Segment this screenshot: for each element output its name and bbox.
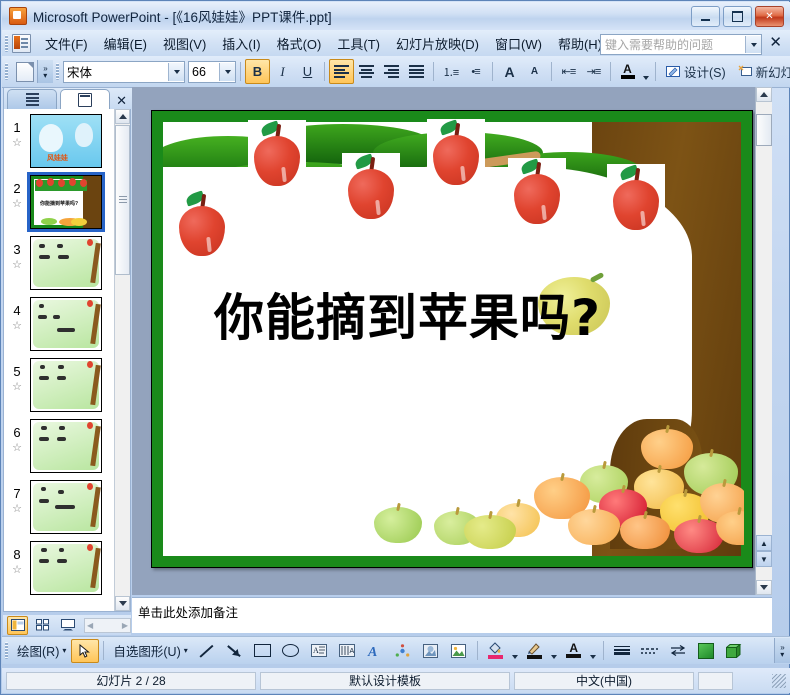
apple-red-3 <box>342 153 400 225</box>
minimize-button[interactable] <box>691 6 720 27</box>
line-color-chevron-down-icon[interactable] <box>549 636 560 665</box>
shadow-style-button[interactable] <box>692 639 720 663</box>
apple-red-4 <box>427 119 485 191</box>
fill-color-icon <box>488 640 503 662</box>
menu-item-slideshow[interactable]: 幻灯片放映(D) <box>388 30 487 57</box>
window-controls: ✕ <box>691 6 784 27</box>
previous-slide-button[interactable]: ▲ <box>756 535 772 551</box>
fill-color-button[interactable] <box>482 639 510 663</box>
line-color-icon <box>527 640 542 662</box>
thumbnail-number: 8 ☆ <box>4 541 30 575</box>
oval-icon <box>282 644 299 657</box>
slide-thumbnail-selected[interactable]: 你能摘到苹果吗? <box>30 175 102 229</box>
view-buttons-bar: ◀▶ <box>3 615 131 635</box>
drawing-toolbar: 绘图(R) ▾ 自选图形(U) ▾ A A A <box>2 636 790 664</box>
decrease-indent-icon: ⇤≡ <box>562 65 576 78</box>
transition-star-icon: ☆ <box>12 260 22 270</box>
thumbnail-list[interactable]: 1 ☆ 风娃娃 2 ☆ <box>4 109 116 611</box>
arrow-style-button[interactable] <box>664 639 692 663</box>
menu-close-icon[interactable]: ✕ <box>769 35 782 50</box>
thumbnail-number-label: 4 <box>13 303 20 318</box>
slide-scrollbar-thumb[interactable] <box>756 114 772 146</box>
slide-sorter-icon <box>36 619 50 631</box>
diagram-icon <box>395 644 410 658</box>
thumbnail-number-label: 2 <box>13 181 20 196</box>
drawbar-separator-2 <box>477 641 478 660</box>
scroll-left-icon[interactable]: ◀ <box>87 621 93 630</box>
draw-font-color-icon: A <box>566 640 581 662</box>
pane-tabs: ✕ <box>4 88 132 109</box>
arrow-tool-button[interactable] <box>221 639 249 663</box>
list-item[interactable]: 4 ☆ <box>4 292 116 353</box>
list-item[interactable]: 5 ☆ <box>4 353 116 414</box>
status-design-template: 默认设计模板 <box>260 672 510 690</box>
chevron-down-icon[interactable] <box>745 36 761 53</box>
draw-label: 绘图(R) <box>17 641 59 660</box>
transition-star-icon: ☆ <box>12 443 22 453</box>
slide-thumbnail[interactable] <box>30 297 102 351</box>
toolbar-separator-4 <box>492 62 493 81</box>
outline-icon <box>26 92 39 108</box>
transition-star-icon: ☆ <box>12 321 22 331</box>
justify-icon <box>409 64 424 80</box>
align-left-button[interactable] <box>329 59 354 84</box>
arrow-icon <box>227 643 242 658</box>
font-name-select[interactable]: 宋体 <box>63 61 185 83</box>
pane-close-icon[interactable]: ✕ <box>116 93 127 109</box>
pane-horizontal-scrollbar[interactable]: ◀▶ <box>84 618 131 633</box>
slide-thumbnail[interactable] <box>30 419 102 473</box>
normal-view-button[interactable] <box>7 616 28 635</box>
slide-thumbnail[interactable]: 风娃娃 <box>30 114 102 168</box>
scrollbar-grip <box>119 196 127 204</box>
status-extra <box>698 672 733 690</box>
slide-sorter-button[interactable] <box>32 616 53 635</box>
underline-label: U <box>303 64 312 79</box>
slide-thumbnail[interactable] <box>30 236 102 290</box>
toolbar-overflow-1[interactable]: »▾ <box>37 60 53 83</box>
align-center-button[interactable] <box>354 59 379 84</box>
apple-red-5 <box>508 158 566 230</box>
apple-red-6 <box>607 164 665 236</box>
formatting-toolbar: »▾ 宋体 66 B I U ⒈≡ •≡ A A ⇤≡ ⇥≡ A <box>2 56 790 88</box>
transition-star-icon: ☆ <box>12 138 22 148</box>
align-right-icon <box>384 64 399 80</box>
menu-item-tools[interactable]: 工具(T) <box>329 30 388 57</box>
increase-indent-button[interactable]: ⇥≡ <box>581 59 606 84</box>
menu-item-window[interactable]: 窗口(W) <box>487 30 550 57</box>
autoshapes-label: 自选图形(U) <box>113 641 180 660</box>
transition-star-icon: ☆ <box>12 199 22 209</box>
bulleted-list-button[interactable]: •≡ <box>463 59 488 84</box>
powerpoint-icon <box>9 7 27 25</box>
thumbnail-number-label: 6 <box>13 425 20 440</box>
apple-red-1 <box>173 190 231 262</box>
diagram-button[interactable] <box>389 639 417 663</box>
font-name-chevron-down-icon[interactable] <box>168 63 184 81</box>
toolbar-separator-2 <box>324 62 325 81</box>
draw-font-color-chevron-down-icon[interactable] <box>588 636 599 665</box>
vertical-text-box-icon: A <box>339 644 355 657</box>
shadow-style-icon <box>698 643 714 659</box>
font-color-letter: A <box>623 64 632 75</box>
tab-slides[interactable] <box>60 89 110 109</box>
toolbar-separator-1 <box>240 62 241 81</box>
clip-art-button[interactable] <box>417 639 445 663</box>
transition-star-icon: ☆ <box>12 382 22 392</box>
autoshapes-button[interactable]: 自选图形(U) ▾ <box>108 639 192 663</box>
slide-show-button[interactable] <box>57 616 78 635</box>
pane-scrollbar-thumb[interactable] <box>115 125 130 275</box>
menu-item-edit[interactable]: 编辑(E) <box>96 30 155 57</box>
grow-font-icon: A <box>504 64 514 80</box>
design-button[interactable]: 设计(S) <box>660 59 732 84</box>
toolbar-grip-1[interactable] <box>5 63 8 80</box>
thumbnail-number-label: 3 <box>13 242 20 257</box>
underline-button[interactable]: U <box>295 59 320 84</box>
new-slide-button[interactable]: 新幻灯片(N) <box>732 59 790 84</box>
numbered-list-button[interactable]: ⒈≡ <box>438 59 463 84</box>
scroll-up-button[interactable] <box>115 109 130 124</box>
svg-text:A: A <box>313 646 319 655</box>
menu-grip[interactable] <box>5 35 8 52</box>
transition-star-icon: ☆ <box>12 565 22 575</box>
bulleted-list-icon: •≡ <box>471 66 479 78</box>
thumbnail-number: 3 ☆ <box>4 236 30 270</box>
draw-chevron-down-icon: ▾ <box>62 646 66 655</box>
list-item[interactable]: 6 ☆ <box>4 414 116 475</box>
line-color-button[interactable] <box>521 639 549 663</box>
clip-art-icon <box>423 644 438 658</box>
slides-icon <box>78 93 92 107</box>
font-name-value: 宋体 <box>64 62 92 81</box>
toolbar-separator-6 <box>610 62 611 81</box>
line-tool-button[interactable] <box>193 639 221 663</box>
slide-show-icon <box>61 619 75 631</box>
font-color-icon: A <box>621 64 635 79</box>
align-right-button[interactable] <box>379 59 404 84</box>
increase-indent-icon: ⇥≡ <box>587 65 601 78</box>
font-size-chevron-down-icon[interactable] <box>219 63 235 81</box>
bold-button[interactable]: B <box>245 59 270 84</box>
list-item[interactable]: 2 ☆ 你能摘到苹果吗? <box>4 170 116 231</box>
numbered-list-icon: ⒈≡ <box>443 64 458 80</box>
new-document-button[interactable] <box>12 59 37 84</box>
font-color-chevron-down-icon[interactable] <box>640 57 651 86</box>
powerpoint-window: Microsoft PowerPoint - [《16风娃娃》PPT课件.ppt… <box>0 0 790 695</box>
design-label: 设计(S) <box>684 62 726 81</box>
toolbar-grip-2[interactable] <box>56 63 59 80</box>
3d-style-icon <box>726 644 742 658</box>
window-title: Microsoft PowerPoint - [《16风娃娃》PPT课件.ppt… <box>33 6 332 26</box>
slides-pane: ✕ 1 ☆ 风娃娃 2 ☆ <box>3 87 131 612</box>
pane-scrollbar[interactable] <box>114 109 130 611</box>
dash-style-icon <box>641 645 658 657</box>
justify-button[interactable] <box>404 59 429 84</box>
next-slide-button[interactable]: ▼ <box>756 551 772 567</box>
drawbar-overflow[interactable]: »▾ <box>774 638 790 663</box>
select-objects-button[interactable] <box>71 639 99 663</box>
menu-bar: 文件(F) 编辑(E) 视图(V) 插入(I) 格式(O) 工具(T) 幻灯片放… <box>2 30 790 56</box>
new-document-icon <box>16 62 34 82</box>
font-color-button[interactable]: A <box>615 59 640 84</box>
align-center-icon <box>359 64 374 80</box>
draw-menu-button[interactable]: 绘图(R) ▾ <box>12 639 71 663</box>
drawbar-grip[interactable] <box>5 642 8 659</box>
select-arrow-icon <box>79 644 92 658</box>
thumbnail-number: 2 ☆ <box>4 175 30 209</box>
thumbnail-number: 1 ☆ <box>4 114 30 148</box>
slide-thumbnail[interactable] <box>30 480 102 534</box>
menu-item-view[interactable]: 视图(V) <box>155 30 214 57</box>
new-slide-icon <box>738 65 753 79</box>
thumbnail-number: 4 ☆ <box>4 297 30 331</box>
notes-pane[interactable]: 单击此处添加备注 <box>132 597 772 633</box>
apple-pile <box>344 407 744 557</box>
scroll-right-icon[interactable]: ▶ <box>122 621 128 630</box>
slide-thumbnail[interactable] <box>30 358 102 412</box>
resize-grip[interactable] <box>772 674 786 688</box>
dash-style-button[interactable] <box>636 639 664 663</box>
slide-canvas[interactable]: 你能摘到苹果吗? <box>151 110 753 568</box>
thumbnail-number-label: 8 <box>13 547 20 562</box>
thumbnail-number: 7 ☆ <box>4 480 30 514</box>
autoshapes-chevron-down-icon: ▾ <box>184 646 188 655</box>
status-slide-info: 幻灯片 2 / 28 <box>6 672 256 690</box>
italic-label: I <box>280 64 284 80</box>
font-size-select[interactable]: 66 <box>188 61 236 83</box>
document-icon <box>12 34 31 53</box>
drawbar-separator-1 <box>103 641 104 660</box>
thumbnail-number: 6 ☆ <box>4 419 30 453</box>
draw-font-color-letter: A <box>569 643 578 654</box>
slide-thumbnail[interactable] <box>30 541 102 595</box>
svg-text:A: A <box>367 645 377 658</box>
oval-tool-button[interactable] <box>277 639 305 663</box>
drawbar-separator-3 <box>603 641 604 660</box>
wordart-icon: A <box>367 644 383 658</box>
slide-stage: 你能摘到苹果吗? <box>132 87 772 595</box>
rectangle-icon <box>254 644 271 657</box>
toolbar-separator-5 <box>551 62 552 81</box>
text-box-icon: A <box>311 644 327 657</box>
line-style-button[interactable] <box>608 639 636 663</box>
status-bar: 幻灯片 2 / 28 默认设计模板 中文(中国) <box>2 668 790 693</box>
menu-item-file[interactable]: 文件(F) <box>37 30 96 57</box>
decrease-indent-button[interactable]: ⇤≡ <box>556 59 581 84</box>
draw-font-color-button[interactable]: A <box>560 639 588 663</box>
bold-label: B <box>253 64 262 79</box>
shrink-font-icon: A <box>531 66 538 77</box>
thumbnail-number-label: 1 <box>13 120 20 135</box>
normal-view-icon <box>11 619 25 631</box>
thumbnail-number: 5 ☆ <box>4 358 30 392</box>
close-button[interactable]: ✕ <box>755 6 784 27</box>
ask-a-question-box[interactable]: 键入需要帮助的问题 <box>600 34 762 55</box>
title-bar: Microsoft PowerPoint - [《16风娃娃》PPT课件.ppt… <box>2 2 790 30</box>
slide-vertical-scrollbar[interactable]: ▲ ▼ <box>755 87 772 595</box>
toolbar-separator-7 <box>655 62 656 81</box>
list-item[interactable]: 7 ☆ <box>4 475 116 536</box>
menu-item-format[interactable]: 格式(O) <box>269 30 330 57</box>
italic-button[interactable]: I <box>270 59 295 84</box>
transition-star-icon: ☆ <box>12 504 22 514</box>
list-item[interactable]: 3 ☆ <box>4 231 116 292</box>
slide-scroll-down-button[interactable] <box>756 580 772 595</box>
insert-picture-button[interactable] <box>445 639 473 663</box>
maximize-button[interactable] <box>723 6 752 27</box>
apple-red-2 <box>248 120 306 192</box>
list-item[interactable]: 1 ☆ 风娃娃 <box>4 109 116 170</box>
vertical-text-box-button[interactable]: A <box>333 639 361 663</box>
fill-color-chevron-down-icon[interactable] <box>510 636 521 665</box>
prev-next-slide-group: ▲ ▼ <box>756 535 772 567</box>
line-icon <box>199 643 214 658</box>
status-language: 中文(中国) <box>514 672 694 690</box>
ask-a-question-placeholder: 键入需要帮助的问题 <box>601 36 713 53</box>
thumbnail-number-label: 7 <box>13 486 20 501</box>
scroll-down-button[interactable] <box>115 596 130 611</box>
svg-text:A: A <box>349 648 354 655</box>
slide-scroll-up-button[interactable] <box>756 87 772 102</box>
new-slide-label: 新幻灯片(N) <box>756 62 790 81</box>
thumbnail-number-label: 5 <box>13 364 20 379</box>
list-item[interactable]: 8 ☆ <box>4 536 116 597</box>
menu-item-insert[interactable]: 插入(I) <box>214 30 268 57</box>
picture-icon <box>451 644 466 658</box>
line-style-icon <box>614 645 630 657</box>
arrow-style-icon <box>670 644 686 657</box>
design-icon <box>666 65 681 79</box>
tab-outline[interactable] <box>7 89 57 109</box>
notes-placeholder: 单击此处添加备注 <box>132 598 772 625</box>
toolbar-separator-3 <box>433 62 434 81</box>
3d-style-button[interactable] <box>720 639 748 663</box>
decrease-font-size-button[interactable]: A <box>522 59 547 84</box>
rectangle-tool-button[interactable] <box>249 639 277 663</box>
increase-font-size-button[interactable]: A <box>497 59 522 84</box>
wordart-button[interactable]: A <box>361 639 389 663</box>
align-left-icon <box>334 64 349 80</box>
text-box-button[interactable]: A <box>305 639 333 663</box>
font-size-value: 66 <box>189 65 206 79</box>
slide-title[interactable]: 你能摘到苹果吗? <box>214 289 674 347</box>
